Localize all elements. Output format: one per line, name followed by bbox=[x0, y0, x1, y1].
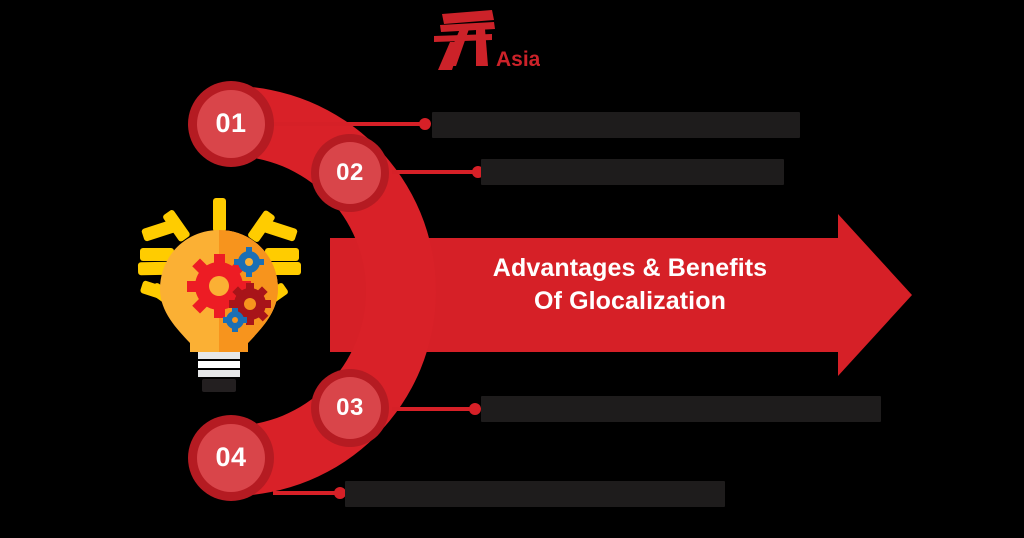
step-label-redaction-02 bbox=[481, 159, 784, 185]
step-label-redaction-01 bbox=[432, 112, 800, 138]
step-node-02[interactable] bbox=[311, 134, 389, 212]
step-node-03[interactable] bbox=[311, 369, 389, 447]
step-label-redaction-04 bbox=[345, 481, 725, 507]
step-node-01[interactable] bbox=[188, 81, 274, 167]
step-label-redaction-03 bbox=[481, 396, 881, 422]
process-diagram bbox=[0, 0, 1024, 538]
step-node-04[interactable] bbox=[188, 415, 274, 501]
lightbulb-with-gears-icon bbox=[138, 198, 301, 392]
bulb-screw-base bbox=[198, 352, 240, 392]
infographic-canvas: Asia bbox=[0, 0, 1024, 538]
